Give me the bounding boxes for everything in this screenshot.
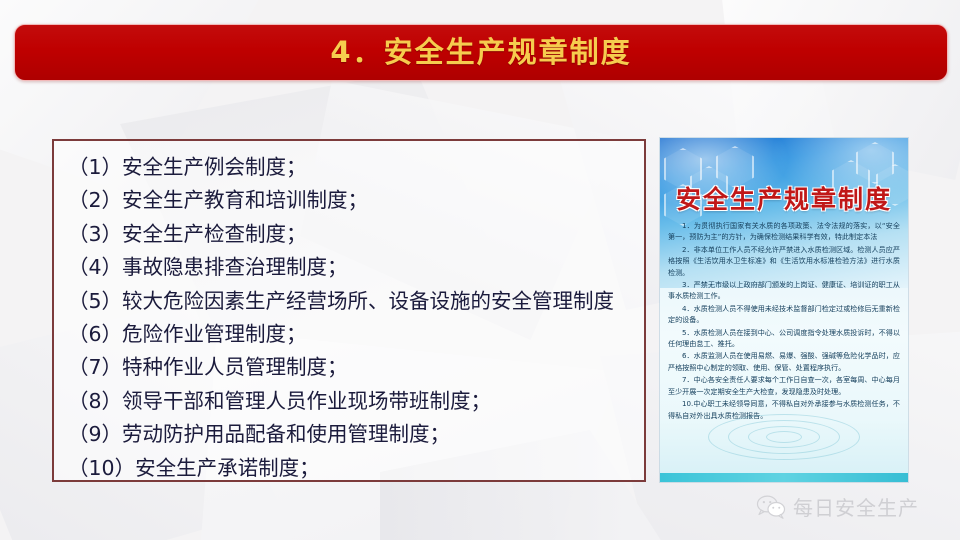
- list-item: （7）特种作业人员管理制度；: [68, 351, 644, 384]
- safety-regulations-poster-image: 安全生产规章制度 1．为贯彻执行国家有关水质的各项政策、法令法规的落实，以“安全…: [660, 138, 908, 482]
- poster-paragraph: 7．中心各安全责任人要求每个工作日自查一次，各室每周、中心每月至少开展一次定期安…: [668, 374, 900, 397]
- list-item: （8）领导干部和管理人员作业现场带班制度；: [68, 385, 644, 418]
- wechat-icon: [756, 495, 786, 519]
- page-title: 4．安全生产规章制度: [330, 38, 631, 67]
- poster-paragraph: 3．严禁无市级以上政府部门颁发的上岗证、健康证、培训证的职工从事水质检测工作。: [668, 279, 900, 302]
- poster-paragraph: 6．水质监测人员在使用易燃、易爆、强酸、强碱等危险化学品时，应严格按照中心制定的…: [668, 350, 900, 373]
- poster-paragraph: 1．为贯彻执行国家有关水质的各项政策、法令法规的落实，以“安全第一，预防为主”的…: [668, 220, 900, 243]
- poster-paragraph: 10.中心职工未经领导同意，不得私自对外承接参与水质检测任务，不得私自对外出具水…: [668, 398, 900, 421]
- poster-paragraph: 5．水质检测人员在接到中心、公司调度指令处理水质投诉时，不得以任何理由怠工、推托…: [668, 327, 900, 350]
- poster-body-text: 1．为贯彻执行国家有关水质的各项政策、法令法规的落实，以“安全第一，预防为主”的…: [668, 220, 900, 422]
- footer-watermark: 每日安全生产: [756, 492, 919, 521]
- poster-title: 安全生产规章制度: [660, 180, 908, 216]
- regulations-list-box: （1）安全生产例会制度； （2）安全生产教育和培训制度； （3）安全生产检查制度…: [52, 139, 646, 482]
- poster-paragraph: 4．水质检测人员不得使用未经技术监督部门检定过或检修后无重新检定的设备。: [668, 303, 900, 326]
- list-item: （3）安全生产检查制度；: [68, 218, 644, 251]
- poster-paragraph: 2．非本单位工作人员不经允许严禁进入水质检测区域。检测人员应严格按照《生活饮用水…: [668, 244, 900, 278]
- list-item: （9）劳动防护用品配备和使用管理制度；: [68, 418, 644, 451]
- list-item: （6）危险作业管理制度；: [68, 318, 644, 351]
- brand-name: 每日安全生产: [793, 492, 919, 521]
- list-item: （10）安全生产承诺制度；: [68, 452, 644, 485]
- water-ripple: [766, 431, 802, 443]
- poster-footer-bar: [660, 473, 908, 482]
- list-item: （1）安全生产例会制度；: [68, 151, 644, 184]
- slide-title-banner: 4．安全生产规章制度: [14, 24, 948, 81]
- list-item: （4）事故隐患排查治理制度；: [68, 251, 644, 284]
- presentation-slide: 4．安全生产规章制度 （1）安全生产例会制度； （2）安全生产教育和培训制度； …: [0, 0, 960, 540]
- list-item: （2）安全生产教育和培训制度；: [68, 184, 644, 217]
- list-item: （5）较大危险因素生产经营场所、设备设施的安全管理制度: [68, 285, 644, 318]
